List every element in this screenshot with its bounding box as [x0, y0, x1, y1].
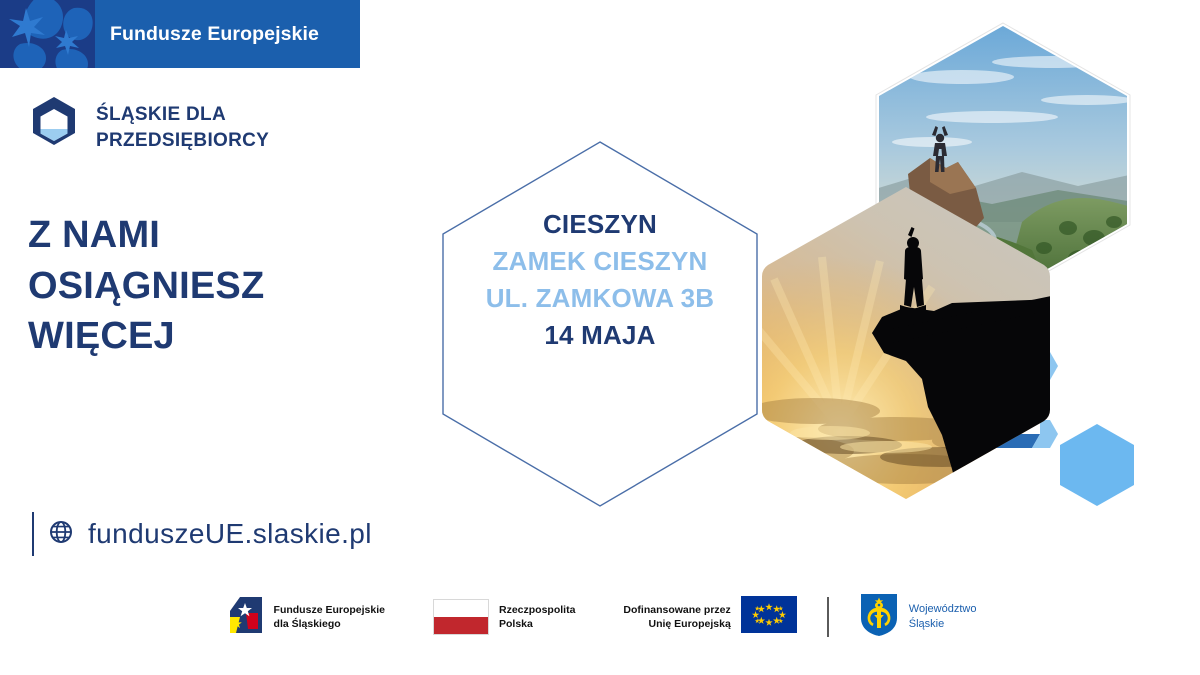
event-city: CIESZYN: [455, 206, 745, 243]
event-venue: ZAMEK CIESZYN: [455, 243, 745, 280]
fundusze-europejskie-banner: Fundusze Europejskie: [0, 0, 360, 68]
logo-fundusze-europejskie: Fundusze Europejskie dla Śląskiego: [224, 595, 385, 640]
logo-caption-polska: Rzeczpospolita Polska: [499, 603, 575, 631]
fundusze-europejskie-stars-logo-icon: [224, 595, 264, 640]
footer-divider: [827, 597, 829, 637]
flag-european-union-icon: [741, 596, 797, 638]
flag-poland-icon: [433, 599, 489, 635]
logo-wojewodztwo-slaskie: Województwo Śląskie: [859, 592, 977, 643]
logo-dofinansowane-ue: Dofinansowane przez Unię Europejską: [623, 596, 796, 638]
silesian-eagle-coat-of-arms-icon: [859, 592, 899, 643]
event-date: 14 MAJA: [455, 317, 745, 354]
logo-caption-wojewodztwo: Województwo Śląskie: [909, 602, 977, 631]
brand-lockup: ŚLĄSKIE DLA PRZEDSIĘBIORCY: [28, 96, 269, 159]
website-url-text[interactable]: funduszeUE.slaskie.pl: [88, 518, 372, 550]
slaskie-hexagon-logo-icon: [28, 96, 80, 159]
page-headline: Z NAMI OSIĄGNIESZ WIĘCEJ: [28, 210, 264, 362]
poster-canvas: Fundusze Europejskie ŚLĄSKIE DLA PRZEDSI…: [0, 0, 1200, 675]
url-divider-rule: [32, 512, 34, 556]
globe-icon: [48, 519, 74, 550]
logo-caption-fundusze: Fundusze Europejskie dla Śląskiego: [274, 603, 385, 631]
logo-rzeczpospolita-polska: Rzeczpospolita Polska: [433, 599, 575, 635]
footer-logo-bar: Fundusze Europejskie dla Śląskiego Rzecz…: [0, 586, 1200, 648]
photo-cliff-silhouette-sunset-icon: [756, 183, 1056, 508]
event-address: UL. ZAMKOWA 3B: [455, 280, 745, 317]
website-url-row[interactable]: funduszeUE.slaskie.pl: [32, 512, 372, 556]
logo-caption-dofinansowane: Dofinansowane przez Unię Europejską: [623, 603, 730, 631]
banner-title-bar: Fundusze Europejskie: [95, 0, 360, 68]
eu-star-pattern-icon: [0, 0, 95, 68]
hexagon-solid-icon: [1058, 422, 1136, 513]
banner-title: Fundusze Europejskie: [95, 23, 319, 46]
event-details: CIESZYN ZAMEK CIESZYN UL. ZAMKOWA 3B 14 …: [455, 206, 745, 354]
brand-title: ŚLĄSKIE DLA PRZEDSIĘBIORCY: [96, 102, 269, 152]
